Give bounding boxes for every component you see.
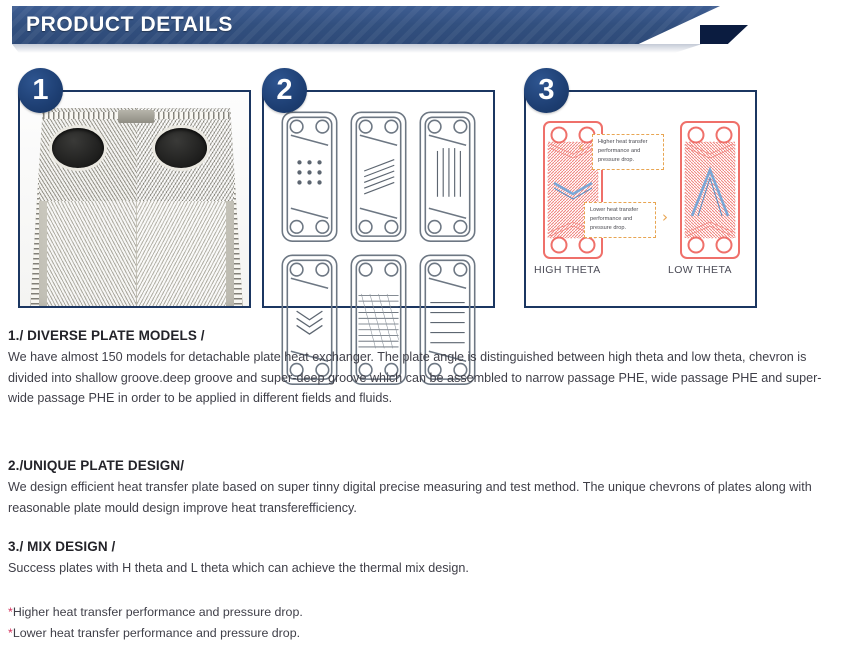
section-2-heading: 2./UNIQUE PLATE DESIGN/ <box>8 458 840 473</box>
plate-photo-image <box>20 92 249 306</box>
banner-arrow-tip <box>700 25 748 44</box>
section-mix-design: 3./ MIX DESIGN / Success plates with H t… <box>8 539 840 579</box>
callout-low-line-1: Lower heat transfer <box>590 206 651 215</box>
panel-badge-1: 1 <box>18 68 63 113</box>
section-unique-plate-design: 2./UNIQUE PLATE DESIGN/ We design effici… <box>8 458 840 518</box>
callout-low-line-2: performance and <box>590 215 651 224</box>
plate-model-vertical-groove <box>416 108 479 245</box>
panel-theta-comparison: Higher heat transfer performance and pre… <box>524 90 757 308</box>
plate-herringbone-lower-left <box>47 201 136 306</box>
high-theta-label: HIGH THETA <box>534 264 601 276</box>
footnotes: *Higher heat transfer performance and pr… <box>8 602 840 644</box>
panel-badge-3: 3 <box>524 68 569 113</box>
panel-plate-photo <box>18 90 251 308</box>
callout-high-line-2: performance and <box>598 147 659 156</box>
callout-high-line-1: Higher heat transfer <box>598 138 659 147</box>
section-3-body: Success plates with H theta and L theta … <box>8 558 840 579</box>
panel-plate-models <box>262 90 495 308</box>
heat-exchanger-plate-photo <box>30 108 243 306</box>
callout-low-line-3: pressure drop. <box>590 224 651 233</box>
low-theta-label: LOW THETA <box>668 264 732 276</box>
plate-left-edge-notches <box>31 138 39 306</box>
banner-shadow <box>12 44 702 53</box>
plate-right-edge-notches <box>234 138 242 306</box>
page-header: PRODUCT DETAILS <box>0 6 848 52</box>
footnote-lower: *Lower heat transfer performance and pre… <box>8 623 840 644</box>
section-2-body: We design efficient heat transfer plate … <box>8 477 840 518</box>
plate-model-grid <box>278 108 479 290</box>
section-diverse-plate-models: 1./ DIVERSE PLATE MODELS / We have almos… <box>8 328 840 409</box>
section-1-body: We have almost 150 models for detachable… <box>8 347 840 409</box>
arrow-left-icon: ‹ <box>578 140 584 155</box>
callout-high-line-3: pressure drop. <box>598 156 659 165</box>
low-theta-plate-graphic <box>679 120 741 260</box>
footnote-2-text: Lower heat transfer performance and pres… <box>13 626 300 640</box>
arrow-right-icon: › <box>662 210 668 225</box>
footnote-1-text: Higher heat transfer performance and pre… <box>13 605 303 619</box>
theta-diagram: Higher heat transfer performance and pre… <box>526 92 755 306</box>
plate-herringbone-lower-right <box>137 201 226 306</box>
page-title: PRODUCT DETAILS <box>26 13 233 37</box>
plate-center-tab <box>118 110 154 123</box>
callout-lower-performance: Lower heat transfer performance and pres… <box>584 202 656 238</box>
panel-badge-2: 2 <box>262 68 307 113</box>
plate-model-diagonal-groove <box>347 108 410 245</box>
section-3-heading: 3./ MIX DESIGN / <box>8 539 840 554</box>
plate-model-dimpled <box>278 108 341 245</box>
section-1-heading: 1./ DIVERSE PLATE MODELS / <box>8 328 840 343</box>
plate-port-left <box>52 128 104 168</box>
footnote-higher: *Higher heat transfer performance and pr… <box>8 602 840 623</box>
plate-port-right <box>155 128 207 168</box>
callout-higher-performance: Higher heat transfer performance and pre… <box>592 134 664 170</box>
